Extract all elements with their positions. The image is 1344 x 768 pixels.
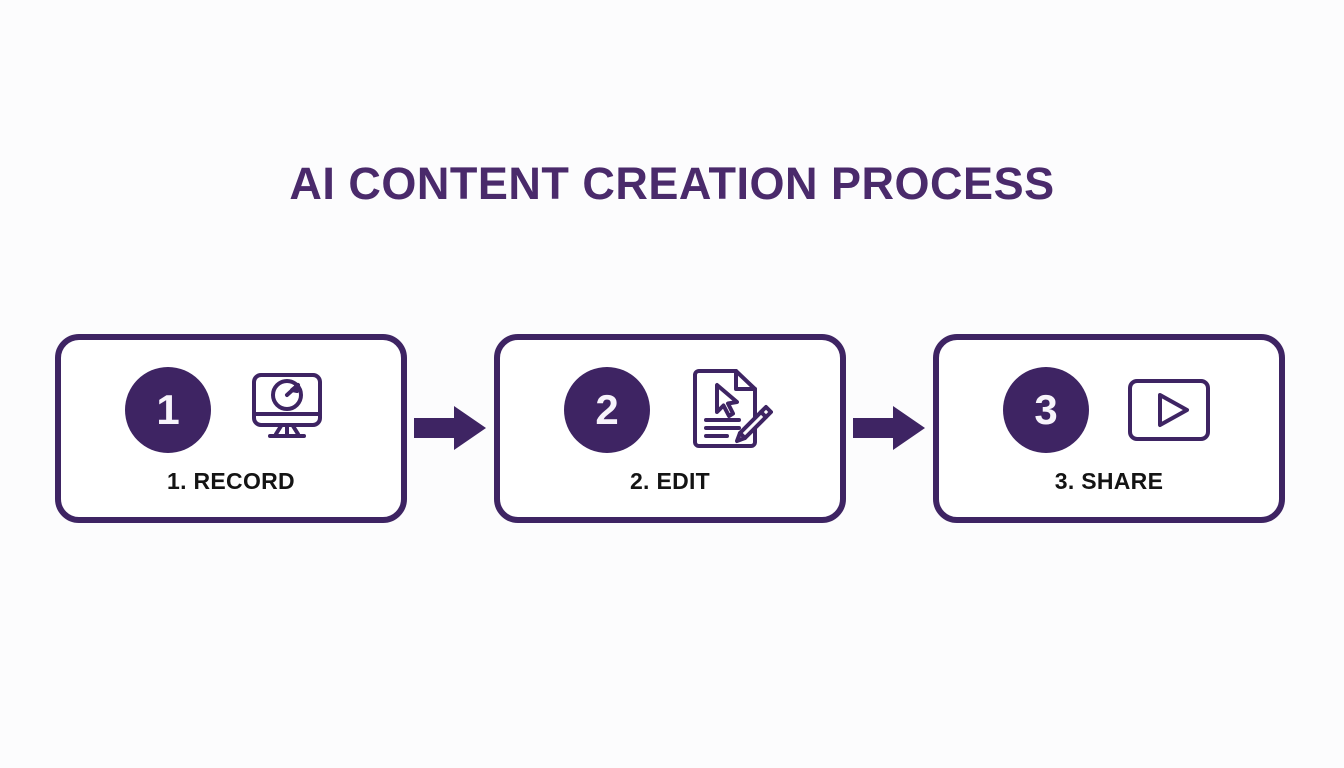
video-play-icon <box>1123 367 1215 453</box>
process-step-card-2[interactable]: 2 2. EDIT <box>494 334 846 523</box>
document-cursor-pencil-icon <box>684 367 776 453</box>
step-1-label: 1. RECORD <box>61 468 401 495</box>
step-1-number-badge: 1 <box>125 367 211 453</box>
monitor-gauge-icon <box>245 367 337 453</box>
step-2-label: 2. EDIT <box>500 468 840 495</box>
step-2-header: 2 <box>500 362 840 458</box>
step-1-header: 1 <box>61 362 401 458</box>
page-title: AI CONTENT CREATION PROCESS <box>0 158 1344 210</box>
process-step-card-3[interactable]: 3 3. SHARE <box>933 334 1285 523</box>
step-2-number-badge: 2 <box>564 367 650 453</box>
process-flow: 1 1. RECORD <box>55 333 1285 523</box>
step-3-number-badge: 3 <box>1003 367 1089 453</box>
step-3-header: 3 <box>939 362 1279 458</box>
step-3-label: 3. SHARE <box>939 468 1279 495</box>
arrow-right-icon <box>853 401 927 455</box>
process-step-card-1[interactable]: 1 1. RECORD <box>55 334 407 523</box>
arrow-right-icon <box>414 401 488 455</box>
diagram-canvas: AI CONTENT CREATION PROCESS 1 <box>0 0 1344 768</box>
